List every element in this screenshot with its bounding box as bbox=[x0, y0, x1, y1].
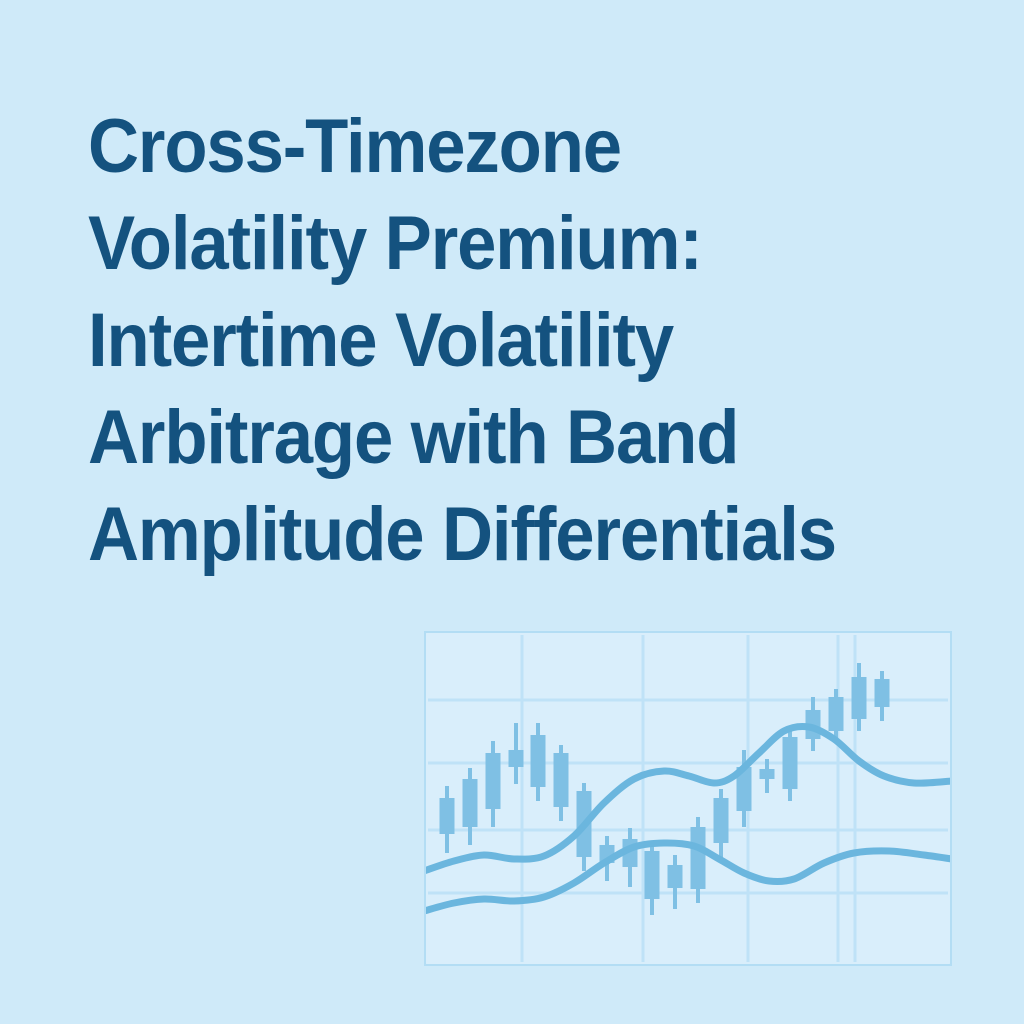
title-line-1: Cross-Timezone bbox=[88, 98, 906, 195]
candle-body bbox=[668, 865, 683, 888]
candle-body bbox=[486, 753, 501, 809]
candle-body bbox=[531, 735, 546, 787]
candle-body bbox=[691, 827, 706, 889]
title-line-4: Arbitrage with Band bbox=[88, 389, 906, 486]
page-title: Cross-Timezone Volatility Premium: Inter… bbox=[88, 98, 968, 583]
candle-body bbox=[714, 798, 729, 843]
candle-body bbox=[875, 679, 890, 707]
title-line-2: Volatility Premium: bbox=[88, 195, 906, 292]
candle-body bbox=[852, 677, 867, 719]
candle-body bbox=[463, 779, 478, 827]
candle-body bbox=[829, 697, 844, 731]
chart-svg bbox=[424, 631, 952, 966]
candle-body bbox=[645, 851, 660, 899]
candlestick-chart bbox=[424, 631, 952, 966]
candle-body bbox=[509, 750, 524, 767]
title-line-5: Amplitude Differentials bbox=[88, 486, 906, 583]
candle-body bbox=[783, 737, 798, 789]
candle-body bbox=[760, 769, 775, 779]
candle-body bbox=[440, 798, 455, 834]
chart-panel-background bbox=[425, 632, 952, 966]
candle-body bbox=[554, 753, 569, 807]
title-line-3: Intertime Volatility bbox=[88, 292, 906, 389]
